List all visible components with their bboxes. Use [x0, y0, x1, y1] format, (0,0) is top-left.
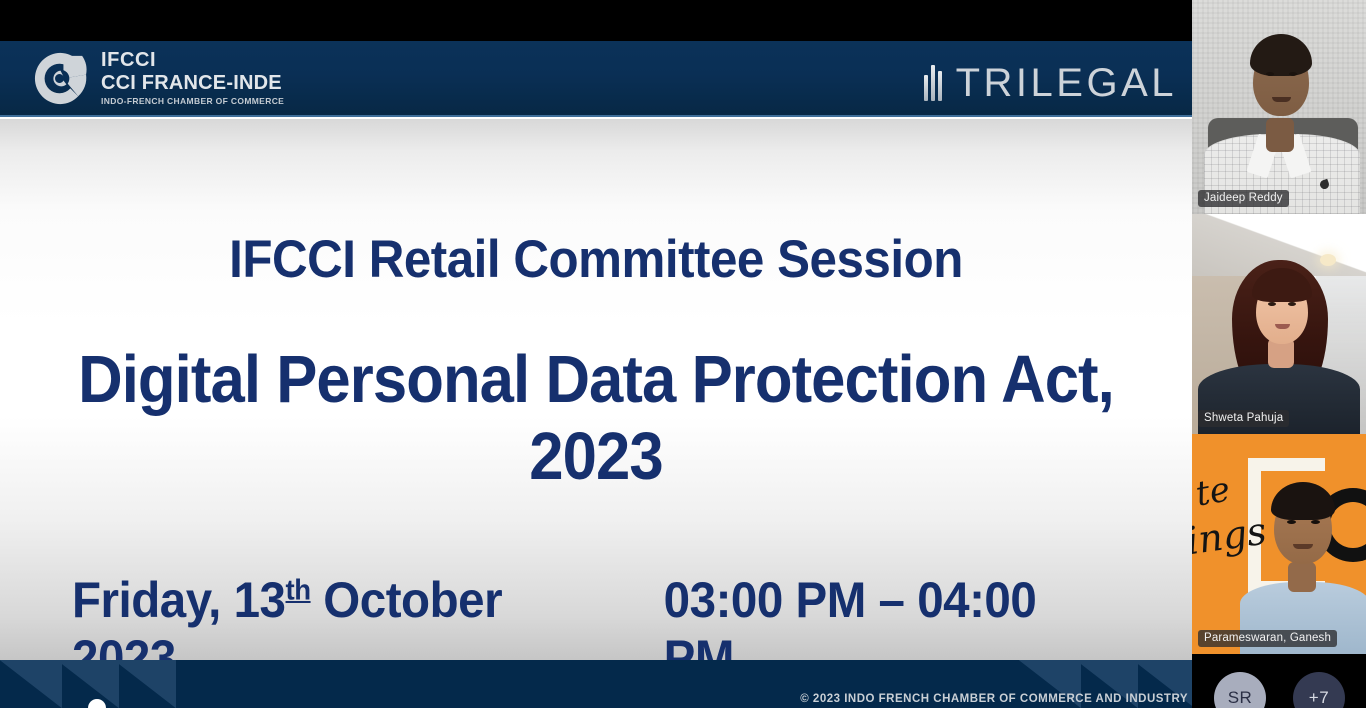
participant-filmstrip[interactable]: Jaideep Reddy Shweta Pahuja — [1192, 0, 1366, 708]
avatar-overflow-count[interactable]: +7 — [1293, 672, 1345, 708]
slide-header-band: IFCCI CCI FRANCE-INDE INDO-FRENCH CHAMBE… — [0, 41, 1192, 117]
participant-video-feed — [1192, 0, 1366, 214]
trilegal-logo-lockup: TRILEGAL — [924, 63, 1177, 103]
slide-date-prefix: Friday, 13 — [72, 572, 286, 628]
trilegal-bars-mark-icon — [924, 65, 942, 101]
stage-letterbox-top — [0, 0, 1192, 41]
slide-copyright: © 2023 INDO FRENCH CHAMBER OF COMMERCE A… — [800, 693, 1188, 705]
slide-body: IFCCI Retail Committee Session Digital P… — [0, 119, 1192, 660]
shared-screen-stage[interactable]: IFCCI CCI FRANCE-INDE INDO-FRENCH CHAMBE… — [0, 0, 1192, 708]
participant-tile[interactable]: te ings Parameswaran, Ganesh — [1192, 434, 1366, 654]
slide-date-ordinal: th — [286, 574, 311, 606]
ifcci-line-2: CCI FRANCE-INDE — [101, 73, 284, 93]
presentation-slide[interactable]: IFCCI CCI FRANCE-INDE INDO-FRENCH CHAMBE… — [0, 41, 1192, 708]
slide-title-line-1: IFCCI Retail Committee Session — [42, 229, 1151, 290]
ifcci-logo-lockup: IFCCI CCI FRANCE-INDE INDO-FRENCH CHAMBE… — [31, 49, 284, 108]
ifcci-circle-mark-icon — [31, 49, 90, 108]
trilegal-wordmark: TRILEGAL — [956, 63, 1177, 103]
participant-video-feed: te ings — [1192, 434, 1366, 654]
slide-title-line-2: Digital Personal Data Protection Act, 20… — [48, 341, 1145, 495]
avatar[interactable]: SR — [1214, 672, 1266, 708]
ifcci-line-3: INDO-FRENCH CHAMBER OF COMMERCE — [101, 97, 284, 106]
participant-overflow-row[interactable]: SR +7 — [1192, 654, 1366, 708]
ifcci-wordmark: IFCCI CCI FRANCE-INDE INDO-FRENCH CHAMBE… — [101, 50, 284, 108]
participant-name-label: Shweta Pahuja — [1198, 410, 1289, 427]
participant-name-label: Parameswaran, Ganesh — [1198, 630, 1337, 647]
slide-footer-band: © 2023 INDO FRENCH CHAMBER OF COMMERCE A… — [0, 660, 1192, 708]
avatar-overflow-label: +7 — [1309, 688, 1329, 708]
meeting-window: IFCCI CCI FRANCE-INDE INDO-FRENCH CHAMBE… — [0, 0, 1366, 708]
avatar-initials: SR — [1228, 688, 1253, 708]
participant-name-label: Jaideep Reddy — [1198, 190, 1289, 207]
participant-video-feed — [1192, 214, 1366, 434]
participant-tile[interactable]: Shweta Pahuja — [1192, 214, 1366, 434]
ifcci-line-1: IFCCI — [101, 50, 284, 70]
participant-tile[interactable]: Jaideep Reddy — [1192, 0, 1366, 214]
